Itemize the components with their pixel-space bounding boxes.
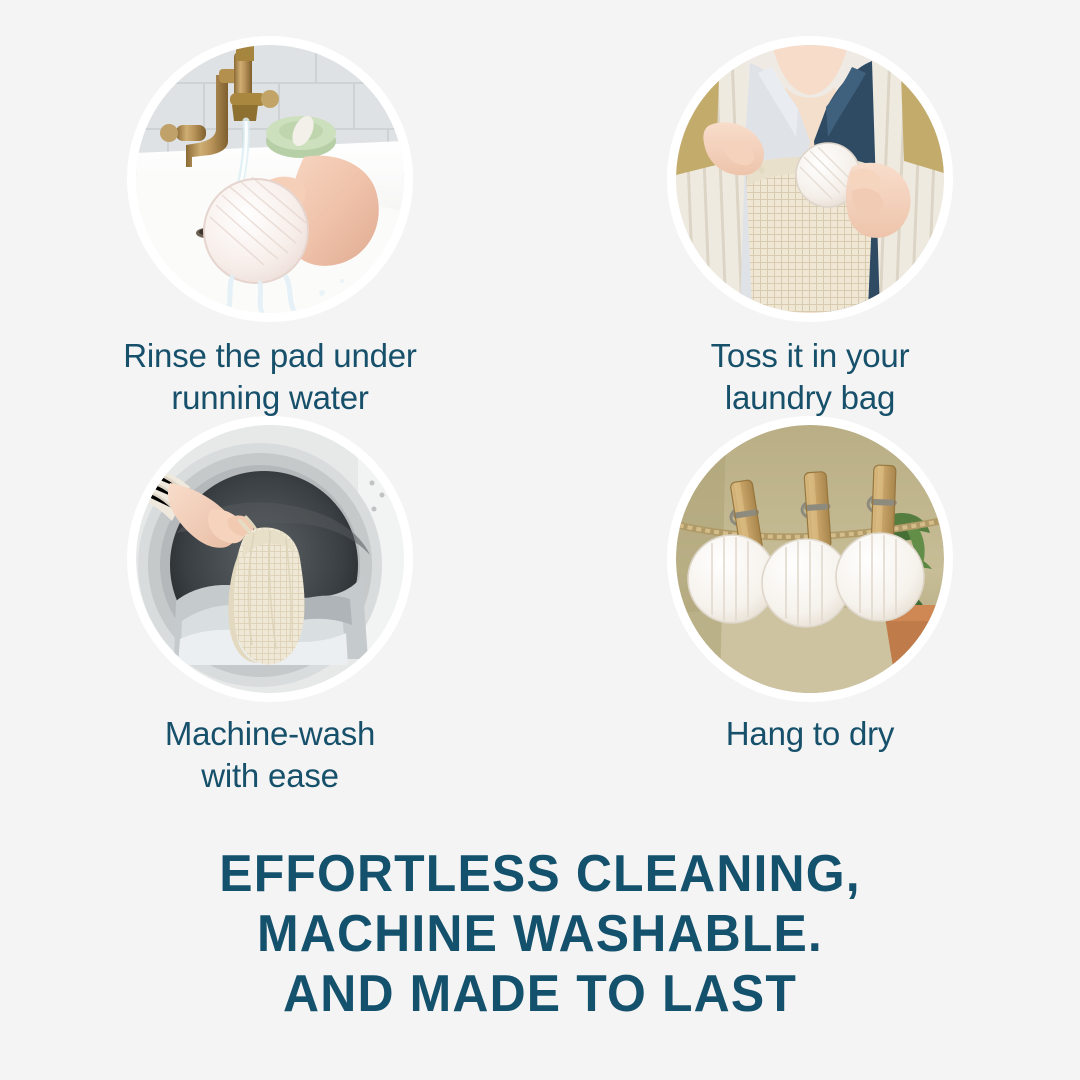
caption-machine-wash-line2: with ease bbox=[201, 757, 339, 794]
step-rinse: Rinse the pad under running water bbox=[0, 0, 540, 400]
photo-rinse-pad-under-faucet bbox=[136, 45, 404, 313]
caption-machine-wash: Machine-wash with ease bbox=[165, 713, 375, 797]
caption-hang-dry: Hang to dry bbox=[726, 713, 894, 755]
caption-machine-wash-line1: Machine-wash bbox=[165, 715, 375, 752]
headline-line-3: AND MADE TO LAST bbox=[22, 965, 1059, 1025]
steps-grid: Rinse the pad under running water bbox=[0, 0, 1080, 810]
step-machine-wash: Machine-wash with ease bbox=[0, 400, 540, 790]
headline: EFFORTLESS CLEANING, MACHINE WASHABLE. A… bbox=[22, 845, 1059, 1024]
photo-pads-hanging-on-line bbox=[676, 425, 944, 693]
caption-rinse-line1: Rinse the pad under bbox=[123, 337, 416, 374]
headline-line-2: MACHINE WASHABLE. bbox=[22, 905, 1059, 965]
step-toss: Toss it in your laundry bag bbox=[540, 0, 1080, 400]
caption-hang-dry-line1: Hang to dry bbox=[726, 715, 894, 752]
headline-line-1: EFFORTLESS CLEANING, bbox=[22, 845, 1059, 905]
photo-pad-into-mesh-bag bbox=[676, 45, 944, 313]
product-infographic: Rinse the pad under running water bbox=[0, 0, 1080, 1080]
caption-toss-line1: Toss it in your bbox=[711, 337, 910, 374]
photo-bag-into-washing-machine bbox=[136, 425, 404, 693]
step-hang-dry: Hang to dry bbox=[540, 400, 1080, 790]
